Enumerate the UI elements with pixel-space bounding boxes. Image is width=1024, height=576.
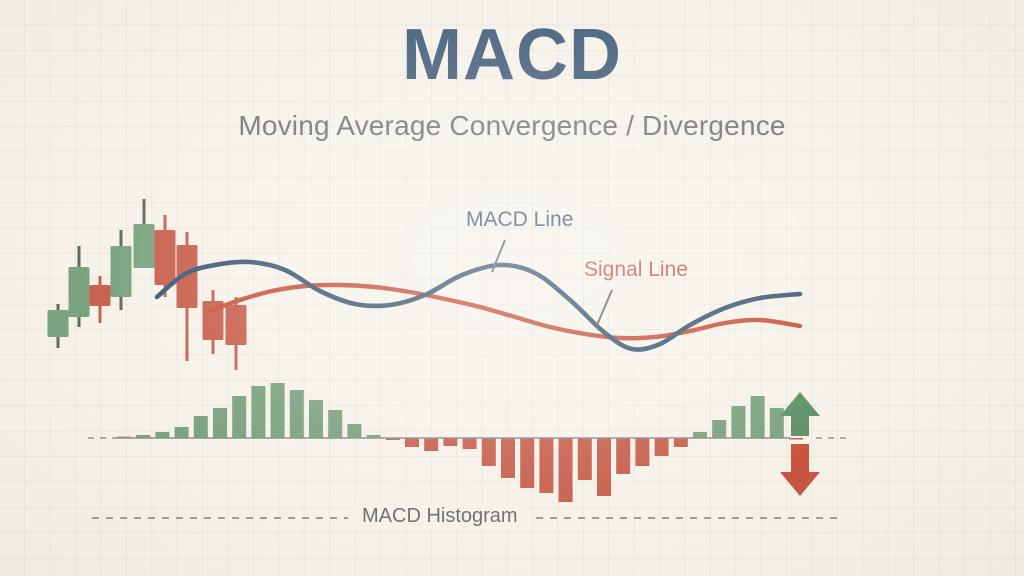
histogram-bar-positive [194,416,208,438]
histogram-bar-positive [347,424,361,438]
histogram-bar-negative [482,438,496,466]
histogram-bar-positive [271,383,285,438]
histogram-bar-negative [539,438,553,493]
histogram-bar-negative [443,438,457,446]
histogram-bar-negative [405,438,419,447]
histogram-bar-positive [290,390,304,438]
candle-body [226,305,247,345]
signal-line-label: Signal Line [584,258,688,282]
histogram-bar-negative [520,438,534,488]
histogram-label: MACD Histogram [352,505,528,528]
macd-infographic: MACD Moving Average Convergence / Diverg… [0,0,1024,576]
chart-canvas [0,0,1024,576]
histogram-bar-negative [501,438,515,478]
histogram-series [117,383,803,502]
histogram-bar-positive [770,408,784,438]
histogram-bar-positive [251,386,265,438]
histogram-bar-positive [175,427,189,438]
candle-body [69,267,90,317]
histogram-bar-positive [213,408,227,438]
histogram-bar-negative [616,438,630,474]
histogram-bar-positive [751,396,765,438]
histogram-bar-negative [578,438,592,480]
candle-body [111,246,132,297]
candlestick-series [48,199,247,370]
candle-body [90,285,111,306]
histogram-bar-negative [559,438,573,502]
histogram-bar-negative [635,438,649,466]
bearish-crossover-arrow-icon [780,444,820,496]
histogram-bar-positive [731,406,745,438]
candle-body [155,230,176,285]
candle-body [134,224,155,268]
histogram-bar-negative [674,438,688,447]
crossover-markers [780,392,820,496]
candle-body [48,310,69,337]
histogram-bar-negative [463,438,477,449]
histogram-bar-positive [309,400,323,438]
histogram-bar-positive [712,420,726,438]
macd-line-label: MACD Line [466,208,573,232]
histogram-bar-negative [655,438,669,456]
histogram-bar-negative [424,438,438,451]
histogram-bar-negative [597,438,611,496]
histogram-bar-positive [232,396,246,438]
histogram-bar-positive [328,410,342,438]
bullish-crossover-arrow-icon [780,392,820,436]
signal-label-leader-line [597,290,612,325]
histogram-bar-negative [789,438,803,440]
